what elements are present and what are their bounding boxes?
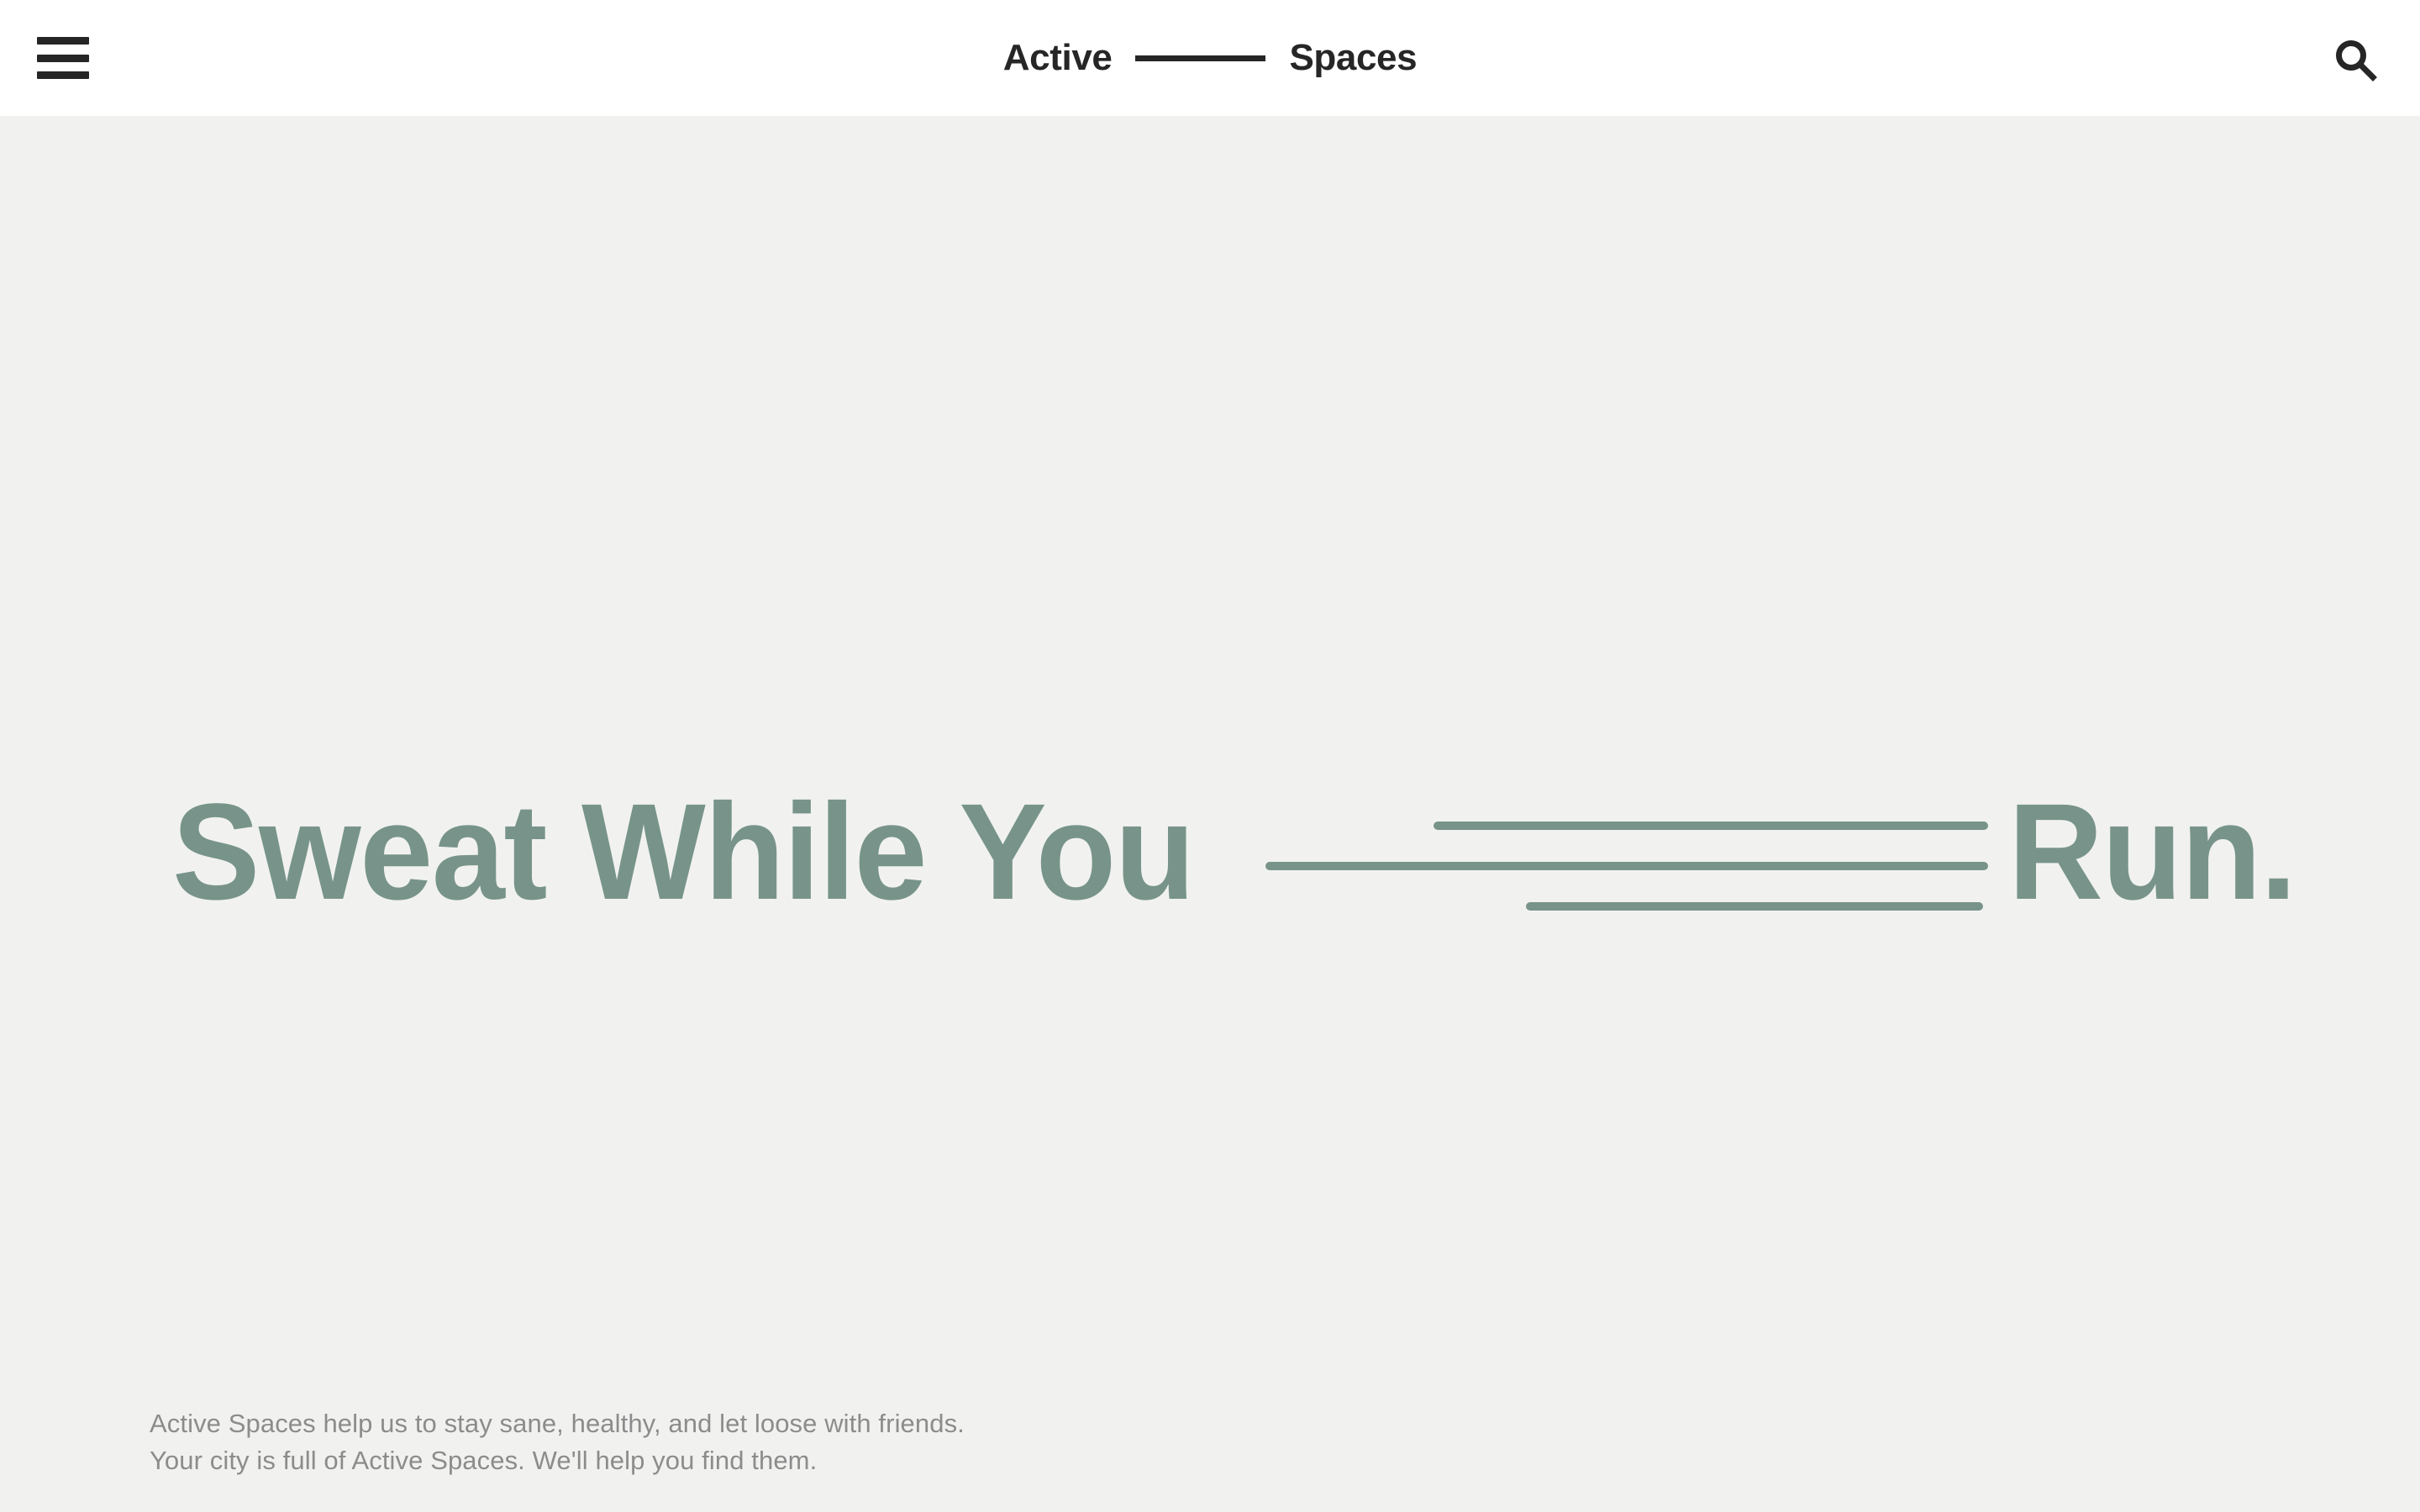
hamburger-menu-icon-bar-2 <box>37 55 89 62</box>
page-root: Active Spaces Sweat While You Run. Activ… <box>0 0 2420 1512</box>
hero-intro-line-1: Active Spaces help us to stay sane, heal… <box>150 1405 1326 1442</box>
site-header: Active Spaces <box>0 0 2420 116</box>
hamburger-menu-button[interactable] <box>37 37 89 79</box>
hamburger-menu-icon-bar-3 <box>37 71 89 79</box>
hamburger-menu-icon-bar-1 <box>37 37 89 45</box>
hero-headline: Sweat While You Run. <box>172 763 2290 939</box>
decorative-line-3 <box>1526 902 1983 911</box>
decorative-line-2 <box>1265 862 1988 870</box>
logo-word-active[interactable]: Active <box>1003 39 1113 76</box>
site-logo: Active Spaces <box>0 0 2420 116</box>
search-button[interactable] <box>2329 34 2381 86</box>
decorative-line-1 <box>1434 822 1988 830</box>
hero-headline-decorative-lines <box>1265 796 1988 906</box>
logo-word-spaces[interactable]: Spaces <box>1289 39 1417 76</box>
hero-headline-part-one: Sweat While You <box>172 783 1194 920</box>
search-icon <box>2331 35 2380 84</box>
hero-intro-paragraph: Active Spaces help us to stay sane, heal… <box>150 1405 1326 1479</box>
hero-intro-line-2: Your city is full of Active Spaces. We'l… <box>150 1442 1326 1479</box>
hero-headline-part-two: Run. <box>2008 783 2296 920</box>
hero-section: Sweat While You Run. Active Spaces help … <box>0 116 2420 1512</box>
logo-divider-rule <box>1135 55 1265 61</box>
